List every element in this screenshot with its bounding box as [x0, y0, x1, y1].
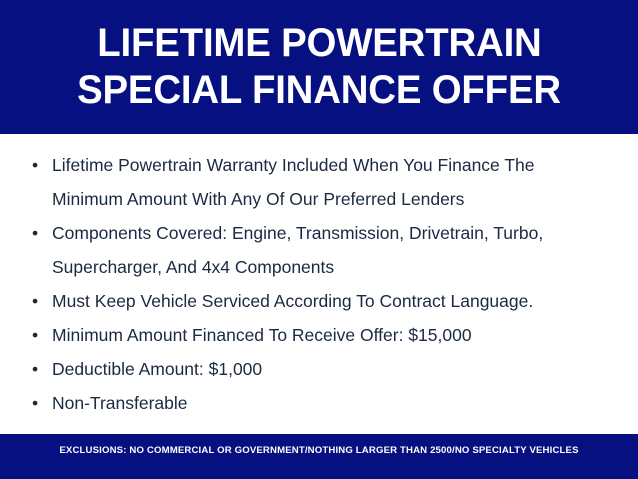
list-item: • Lifetime Powertrain Warranty Included … [18, 148, 620, 216]
exclusions-disclaimer: EXCLUSIONS: NO COMMERCIAL OR GOVERNMENT/… [0, 445, 638, 456]
list-item: • Minimum Amount Financed To Receive Off… [18, 318, 620, 352]
bullet-point-icon: • [32, 318, 42, 352]
bullet-text-line-1: Deductible Amount: $1,000 [52, 352, 620, 386]
bullet-point-icon: • [32, 216, 42, 250]
slide-title-line-2: SPECIAL FINANCE OFFER [77, 67, 561, 114]
bullet-text-line-2: Minimum Amount With Any Of Our Preferred… [52, 189, 464, 209]
footer-banner: EXCLUSIONS: NO COMMERCIAL OR GOVERNMENT/… [0, 434, 638, 479]
bullet-point-icon: • [32, 386, 42, 420]
offer-details-body: • Lifetime Powertrain Warranty Included … [0, 134, 638, 434]
offer-bullet-list: • Lifetime Powertrain Warranty Included … [18, 148, 620, 420]
list-item: • Must Keep Vehicle Serviced According T… [18, 284, 620, 318]
header-banner: LIFETIME POWERTRAIN SPECIAL FINANCE OFFE… [0, 0, 638, 134]
list-item: • Components Covered: Engine, Transmissi… [18, 216, 620, 284]
bullet-point-icon: • [32, 352, 42, 386]
bullet-text-line-1: Lifetime Powertrain Warranty Included Wh… [52, 148, 620, 182]
list-item: • Deductible Amount: $1,000 [18, 352, 620, 386]
bullet-text-line-1: Minimum Amount Financed To Receive Offer… [52, 318, 620, 352]
bullet-text-line-1: Components Covered: Engine, Transmission… [52, 216, 620, 250]
bullet-point-icon: • [32, 284, 42, 318]
bullet-point-icon: • [32, 148, 42, 182]
bullet-text-line-1: Non-Transferable [52, 386, 620, 420]
list-item: • Non-Transferable [18, 386, 620, 420]
bullet-text-line-1: Must Keep Vehicle Serviced According To … [52, 284, 620, 318]
bullet-text-line-2: Supercharger, And 4x4 Components [52, 257, 334, 277]
slide-title-line-1: LIFETIME POWERTRAIN [97, 20, 541, 67]
promotional-slide: LIFETIME POWERTRAIN SPECIAL FINANCE OFFE… [0, 0, 638, 479]
